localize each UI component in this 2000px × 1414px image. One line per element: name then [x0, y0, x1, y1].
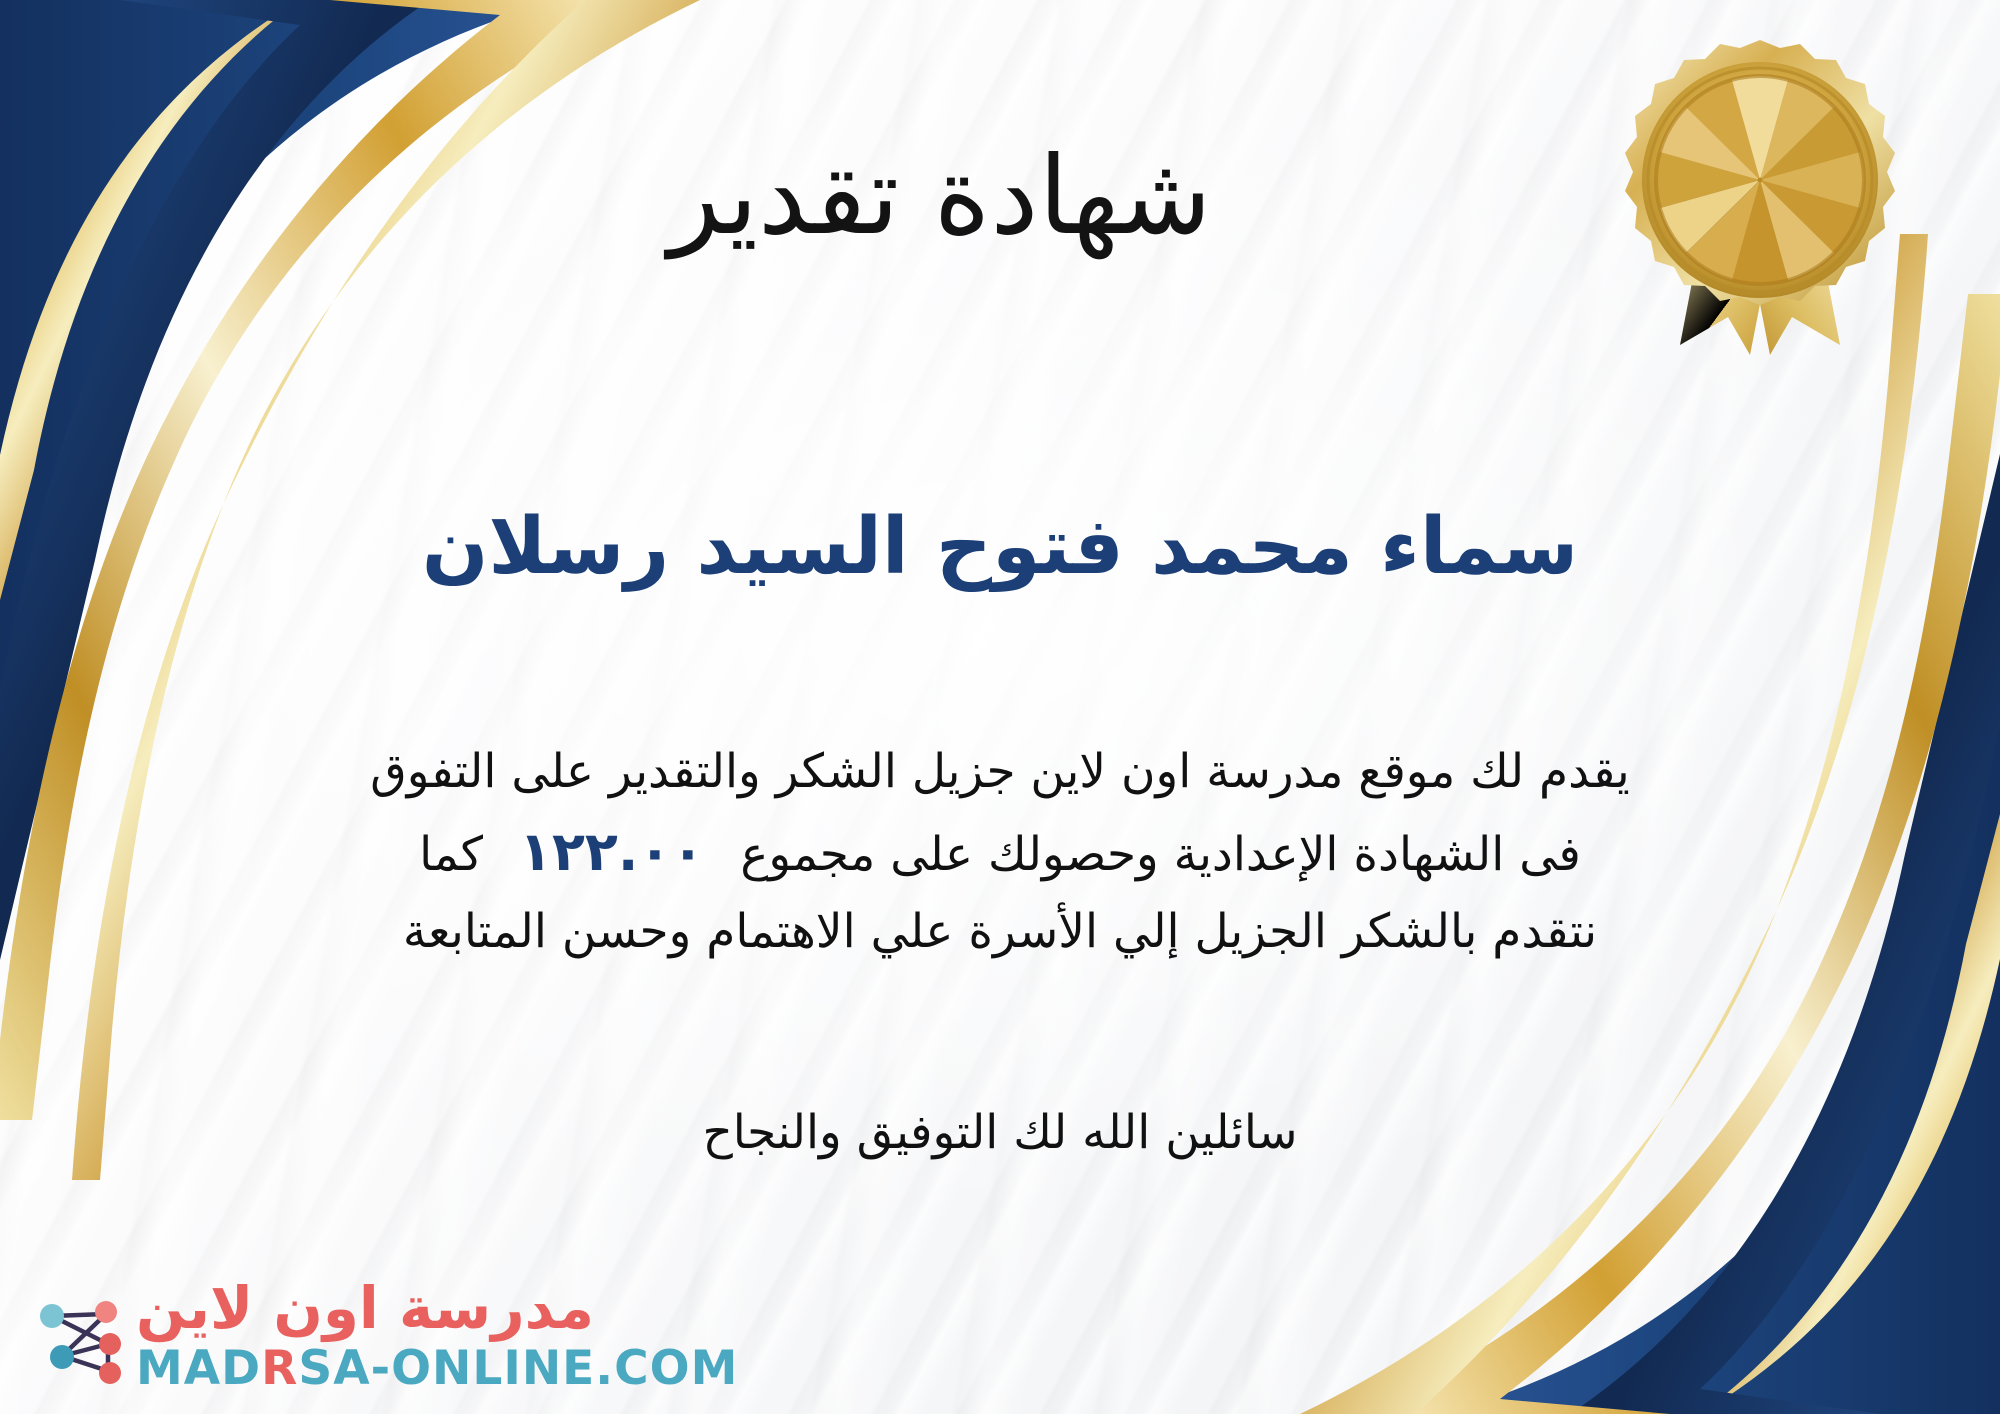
- certificate-body: يقدم لك موقع مدرسة اون لاين جزيل الشكر و…: [70, 735, 1930, 969]
- gold-award-medal-icon: [1610, 25, 1910, 355]
- body-line-2-suffix: كما: [419, 827, 483, 882]
- brand-website-url: MADRSA-ONLINE.COM: [136, 1345, 738, 1392]
- network-nodes-icon: [28, 1286, 128, 1386]
- brand-logo[interactable]: مدرسة اون لاين MADRSA-ONLINE.COM: [28, 1279, 738, 1392]
- body-line-3: نتقدم بالشكر الجزيل إلي الأسرة علي الاهت…: [70, 895, 1930, 969]
- recipient-name: سماء محمد فتوح السيد رسلان: [0, 505, 2000, 591]
- body-line-1: يقدم لك موقع مدرسة اون لاين جزيل الشكر و…: [70, 735, 1930, 809]
- body-line-2: فى الشهادة الإعدادية وحصولك على مجموع١٢٢…: [70, 809, 1930, 894]
- brand-url-part3: SA-ONLINE.COM: [298, 1341, 738, 1396]
- certificate-page: شهادة تقدير سماء محمد فتوح السيد رسلان ي…: [0, 0, 2000, 1414]
- total-score-value: ١٢٢.٠٠: [483, 820, 740, 883]
- brand-url-part2: R: [261, 1341, 298, 1396]
- brand-url-part1: MAD: [136, 1341, 261, 1396]
- closing-wish-text: سائلين الله لك التوفيق والنجاح: [0, 1105, 2000, 1160]
- brand-name-arabic: مدرسة اون لاين: [136, 1279, 594, 1337]
- body-line-2-prefix: فى الشهادة الإعدادية وحصولك على مجموع: [740, 827, 1581, 882]
